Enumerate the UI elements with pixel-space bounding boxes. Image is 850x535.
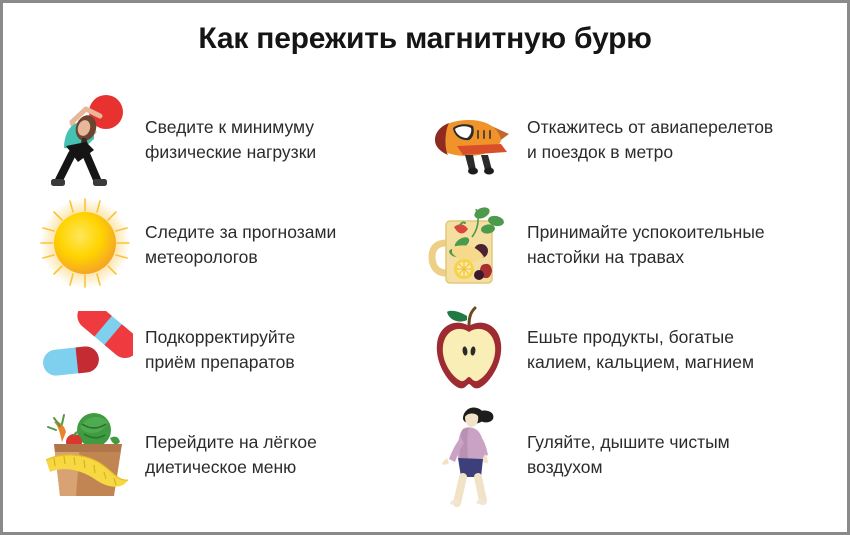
tip-adjust-medication: Подкорректируйте приём препаратов <box>39 297 421 402</box>
tip-text: Гуляйте, дышите чистым воздухом <box>527 430 730 480</box>
tip-take-herbal-sedatives: Принимайте успокоительные настойки на тр… <box>421 192 837 297</box>
tip-text: Сведите к минимуму физические нагрузки <box>145 115 316 165</box>
tip-watch-forecasts: Следите за прогнозами метеорологов <box>39 192 421 297</box>
tip-walk-fresh-air: Гуляйте, дышите чистым воздухом <box>421 402 837 507</box>
sun-icon <box>39 195 135 295</box>
tip-text: Подкорректируйте приём препаратов <box>145 325 295 375</box>
apple-half-icon <box>421 300 517 400</box>
tip-text: Перейдите на лёгкое диетическое меню <box>145 430 317 480</box>
tips-grid: Сведите к минимуму физические нагрузки <box>3 87 847 507</box>
grocery-bag-measuring-tape-icon <box>39 405 135 505</box>
infographic-poster: Как пережить магнитную бурю <box>0 0 850 535</box>
tip-text: Следите за прогнозами метеорологов <box>145 220 336 270</box>
woman-exercise-ball-icon <box>39 90 135 190</box>
pills-capsules-icon <box>39 300 135 400</box>
walking-woman-icon <box>421 405 517 505</box>
tip-avoid-air-travel: Откажитесь от авиаперелетов и поездок в … <box>421 87 837 192</box>
tip-switch-to-light-diet: Перейдите на лёгкое диетическое меню <box>39 402 421 507</box>
tip-text: Принимайте успокоительные настойки на тр… <box>527 220 765 270</box>
tip-eat-potassium-rich-food: Ешьте продукты, богатые калием, кальцием… <box>421 297 837 402</box>
airplane-icon <box>421 90 517 190</box>
page-title: Как пережить магнитную бурю <box>3 21 847 57</box>
tip-text: Откажитесь от авиаперелетов и поездок в … <box>527 115 773 165</box>
tip-reduce-physical-activity: Сведите к минимуму физические нагрузки <box>39 87 421 192</box>
tip-text: Ешьте продукты, богатые калием, кальцием… <box>527 325 754 375</box>
herbal-tea-mug-icon <box>421 195 517 295</box>
